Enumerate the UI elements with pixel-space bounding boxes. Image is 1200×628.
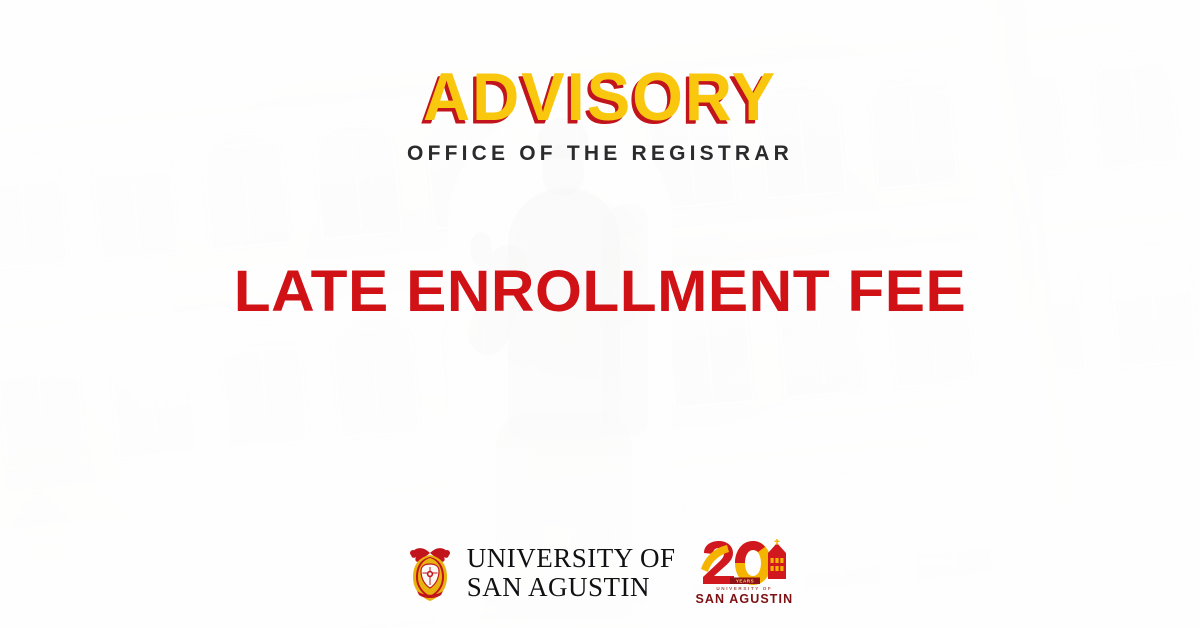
anniversary-name: SAN AGUSTIN <box>695 592 793 606</box>
university-logo-lockup: UNIVERSITY OF SAN AGUSTIN <box>0 539 1200 606</box>
wordmark-line-2: SAN AGUSTIN <box>467 574 676 601</box>
university-crest-icon <box>407 543 453 603</box>
anniversary-mark: YEARS UNIVERSITY OF SAN AGUSTIN <box>695 539 793 606</box>
anniversary-years-label: YEARS <box>736 578 754 583</box>
church-tower-icon <box>768 539 786 579</box>
poster-content: ADVISORY OFFICE OF THE REGISTRAR LATE EN… <box>0 0 1200 628</box>
advisory-poster: ADVISORY OFFICE OF THE REGISTRAR LATE EN… <box>0 0 1200 628</box>
wordmark-line-1: UNIVERSITY OF <box>467 545 676 572</box>
advisory-title: ADVISORY <box>24 58 1176 136</box>
university-wordmark: UNIVERSITY OF SAN AGUSTIN <box>467 545 676 601</box>
anniversary-20-icon: YEARS <box>698 539 790 587</box>
anniversary-top-label: UNIVERSITY OF <box>716 586 772 591</box>
office-subtitle: OFFICE OF THE REGISTRAR <box>0 142 1200 166</box>
advisory-headline: LATE ENROLLMENT FEE <box>0 258 1200 325</box>
